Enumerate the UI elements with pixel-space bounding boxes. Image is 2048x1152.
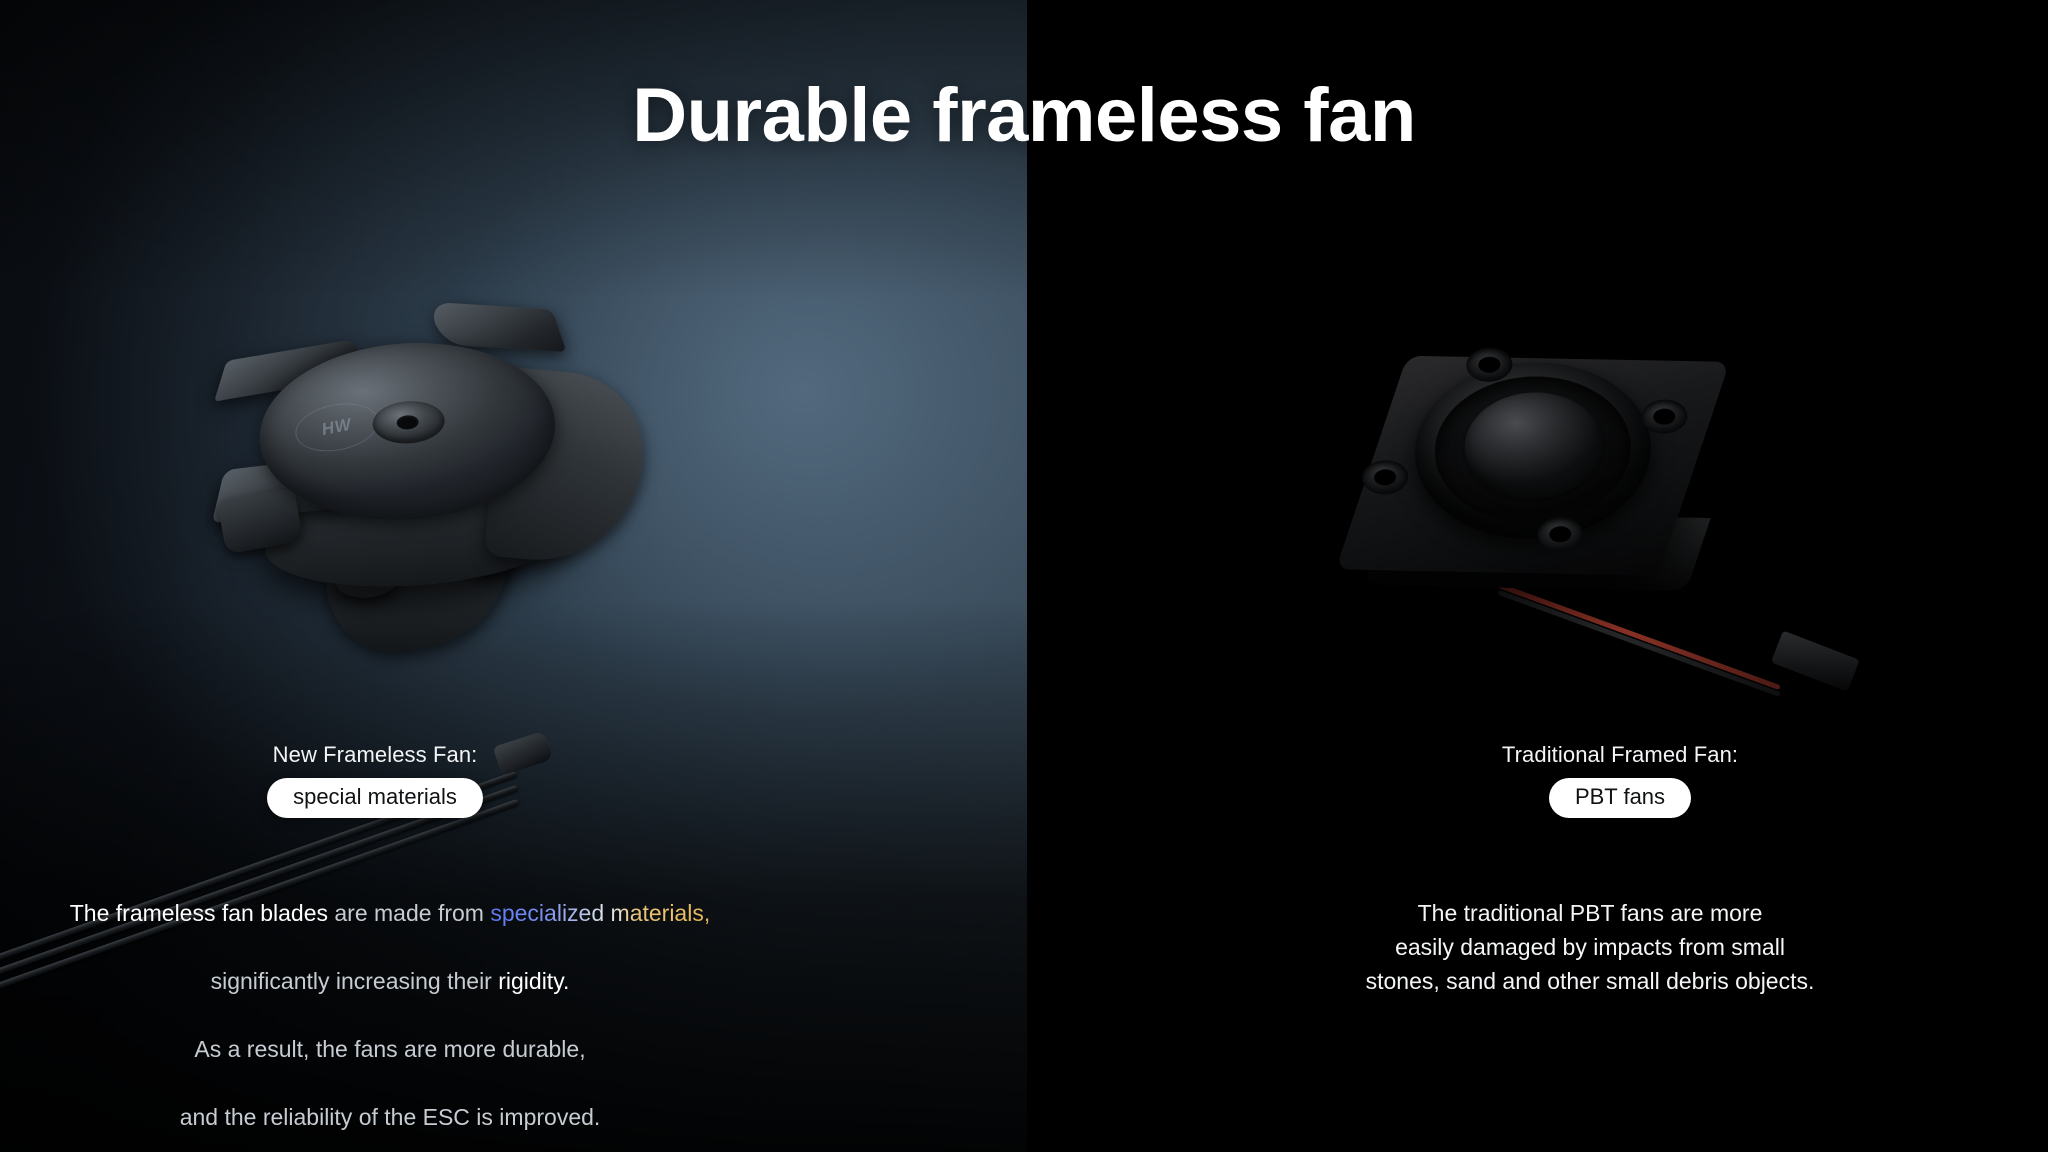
left-body-space <box>604 900 610 926</box>
right-pill-badge: PBT fans <box>1549 778 1691 818</box>
left-body-highlight-specialized: specialized <box>490 900 604 926</box>
left-caption-block: New Frameless Fan: special materials <box>75 742 675 818</box>
right-body-line-2: easily damaged by impacts from small <box>1395 934 1785 960</box>
left-body-line-1-part-a: The frameless fan blades <box>70 900 335 926</box>
right-caption-label: Traditional Framed Fan: <box>1400 742 1840 768</box>
left-body-line-4: and the reliability of the ESC is improv… <box>40 1100 740 1134</box>
left-body-line-3: As a result, the fans are more durable, <box>40 1032 740 1066</box>
left-body-line-1: The frameless fan blades are made from s… <box>40 896 740 930</box>
page-title: Durable frameless fan <box>0 72 2048 159</box>
left-pill-badge: special materials <box>267 778 483 818</box>
left-body-highlight-materials: materials, <box>611 900 711 926</box>
left-body-line-2: significantly increasing their rigidity. <box>40 964 740 998</box>
right-body-line-3: stones, sand and other small debris obje… <box>1366 968 1815 994</box>
framed-fan-image <box>1337 330 1752 651</box>
right-caption-block: Traditional Framed Fan: PBT fans <box>1400 742 1840 818</box>
left-body-line-1-part-b: are made from <box>334 900 490 926</box>
right-body-line-1: The traditional PBT fans are more <box>1418 900 1763 926</box>
left-body-line-2-part-a: significantly increasing their <box>211 968 499 994</box>
left-caption-label: New Frameless Fan: <box>75 742 675 768</box>
frameless-fan-image: HW <box>189 290 641 649</box>
right-body-text: The traditional PBT fans are more easily… <box>1290 862 1890 998</box>
left-body-text: The frameless fan blades are made from s… <box>40 862 740 1152</box>
slide-root: Durable frameless fan HW <box>0 0 2048 1152</box>
left-body-line-2-part-b: rigidity. <box>498 968 569 994</box>
